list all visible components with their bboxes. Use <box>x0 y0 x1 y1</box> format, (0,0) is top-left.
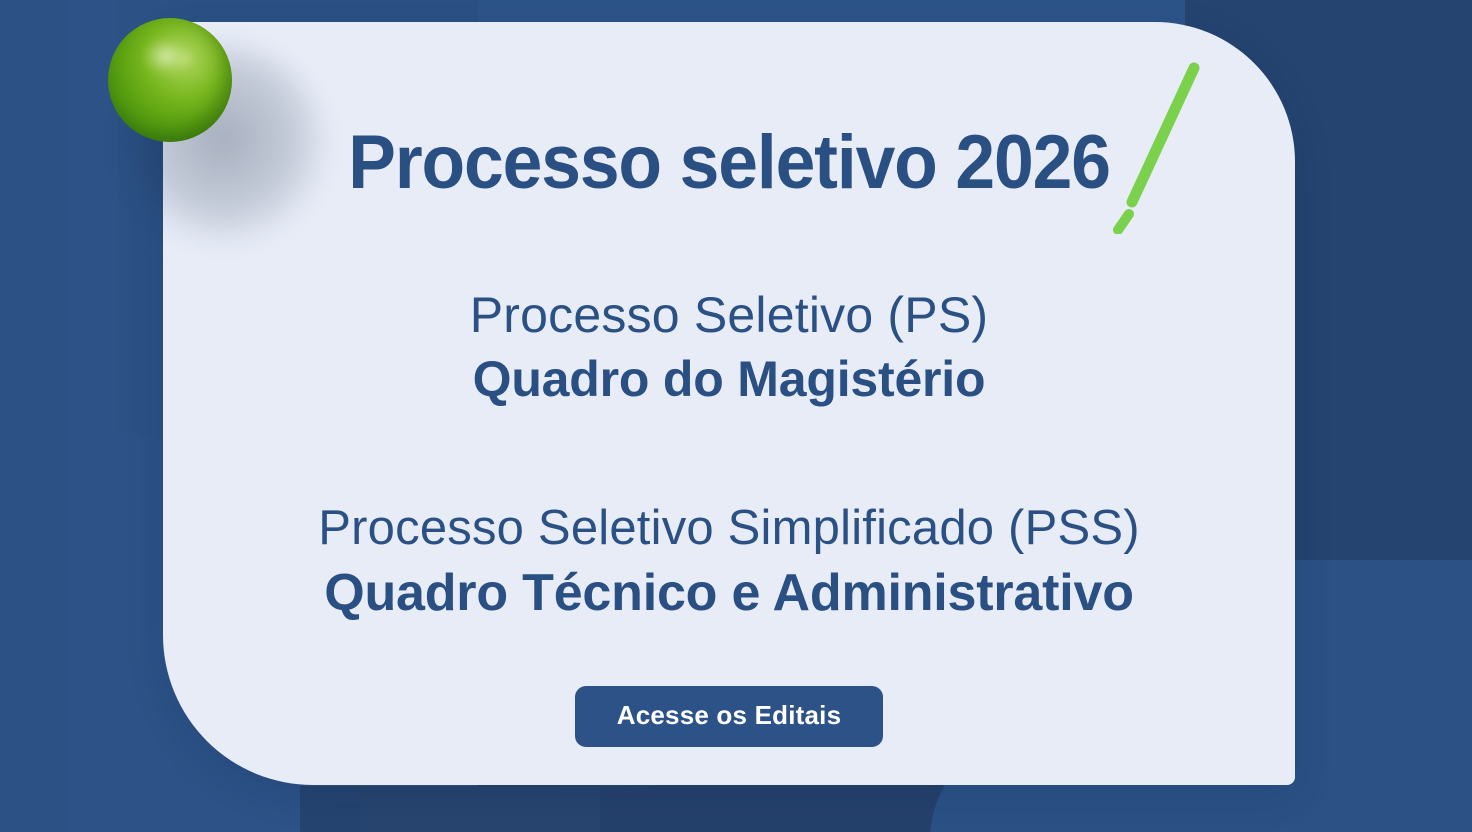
pss-subtitle: Processo Seletivo Simplificado (PSS) <box>163 497 1295 560</box>
pin-highlight <box>140 36 192 76</box>
page-title: Processo seletivo 2026 <box>348 125 1110 201</box>
pss-title: Quadro Técnico e Administrativo <box>163 560 1295 627</box>
process-block-ps: Processo Seletivo (PS) Quadro do Magisté… <box>163 283 1295 411</box>
ps-subtitle: Processo Seletivo (PS) <box>163 283 1295 347</box>
ps-title: Quadro do Magistério <box>163 347 1295 411</box>
banner-canvas: Processo seletivo 2026 Processo Seletivo… <box>0 0 1472 832</box>
access-notices-button[interactable]: Acesse os Editais <box>575 686 884 747</box>
bg-band-bottom-inner <box>360 786 600 832</box>
headline-row: Processo seletivo 2026 <box>163 108 1295 218</box>
cta-row: Acesse os Editais <box>163 686 1295 747</box>
bg-rect-left-inner <box>0 0 70 832</box>
process-block-pss: Processo Seletivo Simplificado (PSS) Qua… <box>163 497 1295 626</box>
